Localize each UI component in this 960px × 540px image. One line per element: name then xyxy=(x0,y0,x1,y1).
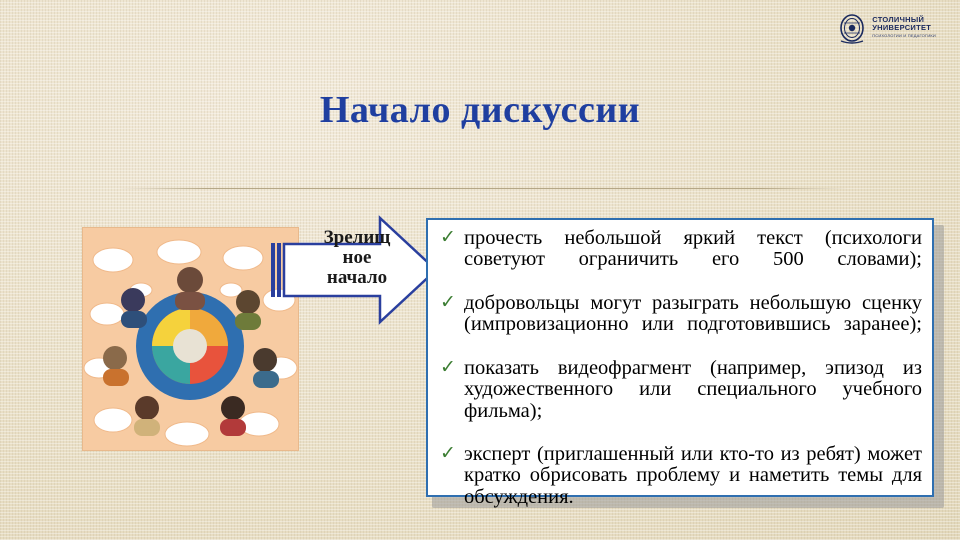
arrow-label-line-3: начало xyxy=(327,267,387,288)
list-item: ✓ эксперт (приглашенный или кто-то из ре… xyxy=(436,444,922,529)
university-logo: СТОЛИЧНЫЙ УНИВЕРСИТЕТ ПСИХОЛОГИИ И ПЕДАГ… xyxy=(838,14,936,44)
check-mark-bullet-icon: ✓ xyxy=(440,228,456,248)
round-table-discussion-illustration xyxy=(83,228,298,450)
page-title: Начало дискуссии xyxy=(0,88,960,132)
bullet-list: ✓ прочесть небольшой яркий текст (психол… xyxy=(436,228,922,529)
list-item: ✓ добровольцы могут разыграть небольшую … xyxy=(436,293,922,357)
arrow-callout: Зрелищ ное начало xyxy=(268,210,443,330)
arrow-label-line-2: ное xyxy=(343,247,372,268)
list-item: ✓ показать видеофрагмент (например, эпиз… xyxy=(436,358,922,443)
divider xyxy=(118,188,848,189)
check-mark-bullet-icon: ✓ xyxy=(440,444,456,464)
list-item-text: эксперт (приглашенный или кто-то из ребя… xyxy=(464,444,922,529)
list-item-text: прочесть небольшой яркий текст (психолог… xyxy=(464,228,922,292)
list-item-text: добровольцы могут разыграть небольшую сц… xyxy=(464,293,922,357)
logo-line-2: УНИВЕРСИТЕТ xyxy=(872,24,936,32)
arrow-label: Зрелищ ное начало xyxy=(308,228,406,288)
check-mark-bullet-icon: ✓ xyxy=(440,293,456,313)
slide-canvas: СТОЛИЧНЫЙ УНИВЕРСИТЕТ ПСИХОЛОГИИ И ПЕДАГ… xyxy=(0,0,960,540)
logo-text-block: СТОЛИЧНЫЙ УНИВЕРСИТЕТ ПСИХОЛОГИИ И ПЕДАГ… xyxy=(872,14,936,38)
list-item-text: показать видеофрагмент (например, эпизод… xyxy=(464,358,922,443)
list-item: ✓ прочесть небольшой яркий текст (психол… xyxy=(436,228,922,292)
check-mark-bullet-icon: ✓ xyxy=(440,358,456,378)
discussion-illustration xyxy=(82,227,299,451)
arrow-label-line-1: Зрелищ xyxy=(324,227,391,248)
logo-line-3: ПСИХОЛОГИИ И ПЕДАГОГИКИ xyxy=(872,34,936,38)
university-emblem-icon xyxy=(838,14,866,44)
content-textbox: ✓ прочесть небольшой яркий текст (психол… xyxy=(426,218,934,497)
